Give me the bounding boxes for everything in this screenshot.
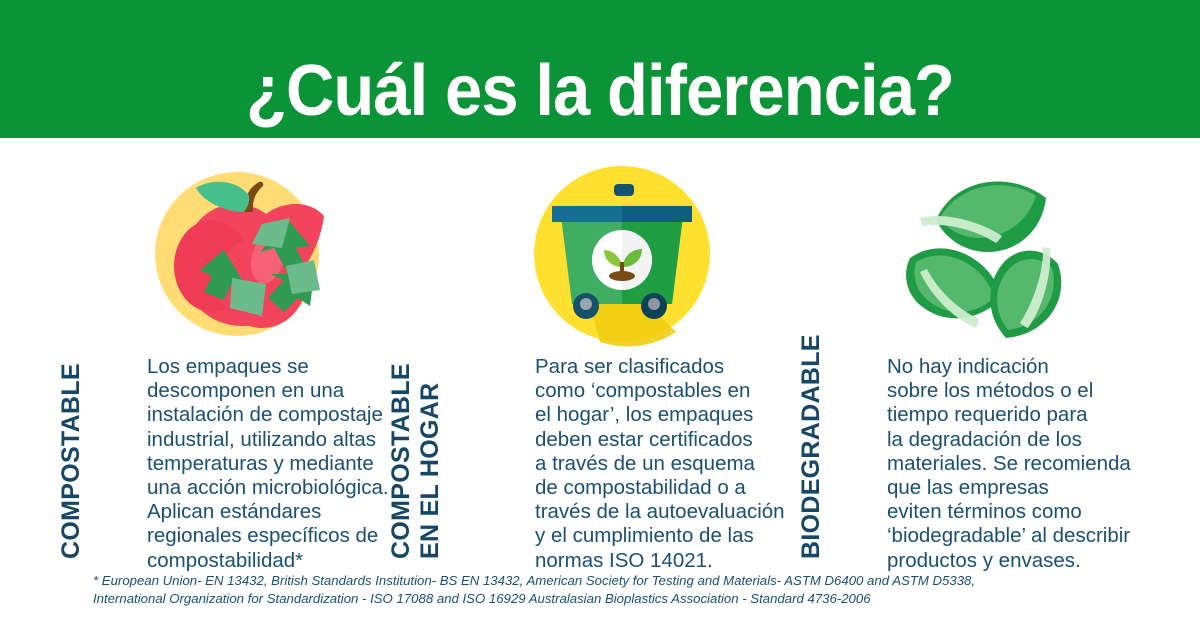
body-line: productos y envases. — [887, 549, 1155, 573]
body-line: a través de un esquema — [535, 452, 803, 476]
body-line: través de la autoevaluación — [535, 500, 803, 524]
body-line: de compostabilidad o a — [535, 476, 803, 500]
body-line: eviten términos como — [887, 500, 1155, 524]
vertical-label-compostable-en-el-hogar: COMPOSTABLE EN EL HOGAR — [387, 363, 445, 559]
compost-bin-icon — [530, 162, 730, 352]
body-line: normas ISO 14021. — [535, 549, 803, 573]
body-line: como ‘compostables en — [535, 379, 803, 403]
body-line: la degradación de los — [887, 428, 1155, 452]
body-line: temperaturas y mediante — [147, 452, 415, 476]
body-line: el hogar’, los empaques — [535, 403, 803, 427]
body-copy-compostable-en-el-hogar: Para ser clasificados como ‘compostables… — [535, 355, 803, 573]
body-line: y el cumplimiento de las — [535, 524, 803, 548]
columns-container: COMPOSTABLE — [0, 150, 1200, 565]
body-line: deben estar certificados — [535, 428, 803, 452]
vertical-label-compostable: COMPOSTABLE — [58, 363, 85, 559]
body-line: Para ser clasificados — [535, 355, 803, 379]
body-line: una acción microbiológica. — [147, 476, 415, 500]
vertical-label-line: COMPOSTABLE — [58, 363, 85, 559]
vertical-label-biodegradable: BIODEGRADABLE — [798, 334, 825, 559]
body-copy-biodegradable: No hay indicación sobre los métodos o el… — [887, 355, 1155, 573]
footnote: * European Union- EN 13432, British Stan… — [93, 572, 1113, 607]
column-compostable-en-el-hogar: COMPOSTABLE EN EL HOGAR — [445, 150, 805, 565]
footnote-line: * European Union- EN 13432, British Stan… — [93, 572, 1113, 590]
vertical-label-line: BIODEGRADABLE — [798, 334, 825, 559]
three-leaves-recycle-icon — [880, 162, 1080, 352]
body-line: sobre los métodos o el — [887, 379, 1155, 403]
body-line: regionales específicos de — [147, 524, 415, 548]
body-line: Aplican estándares — [147, 500, 415, 524]
column-biodegradable: BIODEGRADABLE — [825, 150, 1185, 565]
body-line: que las empresas — [887, 476, 1155, 500]
page-title: ¿Cuál es la diferencia? — [42, 52, 1158, 130]
body-line: compostabilidad* — [147, 549, 415, 573]
body-line: instalación de compostaje — [147, 403, 415, 427]
body-line: materiales. Se recomienda — [887, 452, 1155, 476]
body-line: ‘biodegradable’ al describir — [887, 524, 1155, 548]
body-line: Los empaques se — [147, 355, 415, 379]
vertical-label-line: COMPOSTABLE — [387, 363, 416, 559]
body-copy-compostable: Los empaques se descomponen en una insta… — [147, 355, 415, 573]
footnote-line: International Organization for Standardi… — [93, 590, 1113, 608]
body-line: descomponen en una — [147, 379, 415, 403]
vertical-label-line: EN EL HOGAR — [416, 363, 445, 559]
body-line: No hay indicación — [887, 355, 1155, 379]
body-line: industrial, utilizando altas — [147, 428, 415, 452]
apple-recycle-icon — [140, 162, 340, 352]
body-line: tiempo requerido para — [887, 403, 1155, 427]
